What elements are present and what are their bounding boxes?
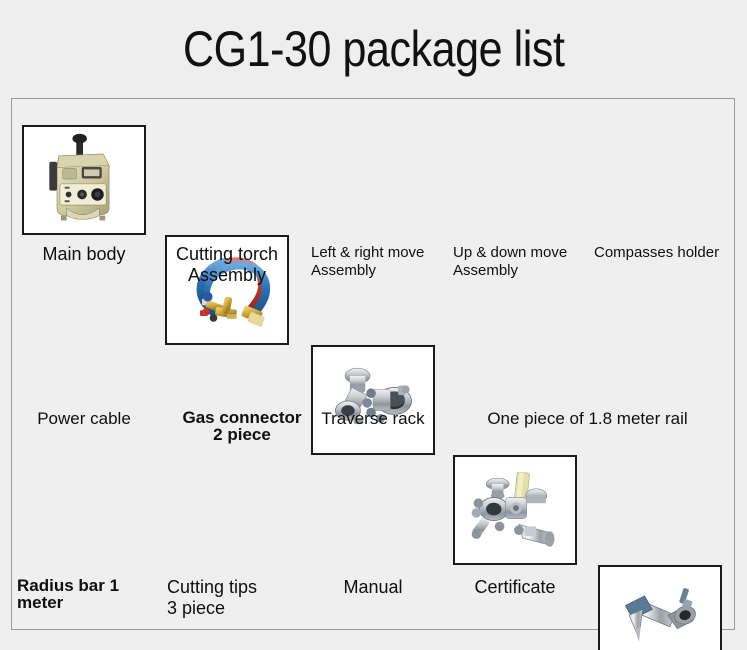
page-title-bar: CG1-30 package list [0, 0, 747, 98]
item-thumbnail-left-right-move-assembly[interactable] [311, 345, 435, 455]
item-label-power-cable: Power cable [14, 409, 154, 429]
item-label-cutting-torch-assembly: Cutting torch Assembly [157, 244, 297, 286]
gas-cutting-machine-body-photo [24, 127, 144, 233]
up-down-move-bracket-photo [455, 457, 575, 563]
item-label-up-down-move-assembly: Up & down move Assembly [453, 244, 603, 279]
item-thumbnail-main-body[interactable] [22, 125, 146, 235]
item-label-left-right-move-assembly: Left & right move Assembly [311, 244, 461, 279]
item-thumbnail-up-down-move-assembly[interactable] [453, 455, 577, 565]
package-list-page: CG1-30 package list [0, 0, 747, 650]
item-label-cutting-tips: Cutting tips 3 piece [167, 577, 317, 619]
item-label-rail-1-8-meter: One piece of 1.8 meter rail [453, 409, 722, 429]
item-thumbnail-compasses-holder[interactable] [598, 565, 722, 650]
left-right-move-clamp-photo [313, 347, 433, 453]
package-items-grid: Main body Cutting torch Assemb [12, 99, 734, 650]
item-label-gas-connector: Gas connector 2 piece [167, 409, 317, 444]
item-label-traverse-rack: Traverse rack [303, 409, 443, 429]
page-title: CG1-30 package list [183, 20, 564, 78]
item-label-manual: Manual [303, 577, 443, 598]
package-items-frame: Main body Cutting torch Assemb [11, 98, 735, 630]
item-label-radius-bar: Radius bar 1 meter [17, 577, 167, 612]
item-label-main-body: Main body [14, 244, 154, 265]
item-label-certificate: Certificate [445, 577, 585, 598]
item-label-compasses-holder: Compasses holder [594, 244, 736, 262]
compasses-holder-photo [600, 567, 720, 650]
